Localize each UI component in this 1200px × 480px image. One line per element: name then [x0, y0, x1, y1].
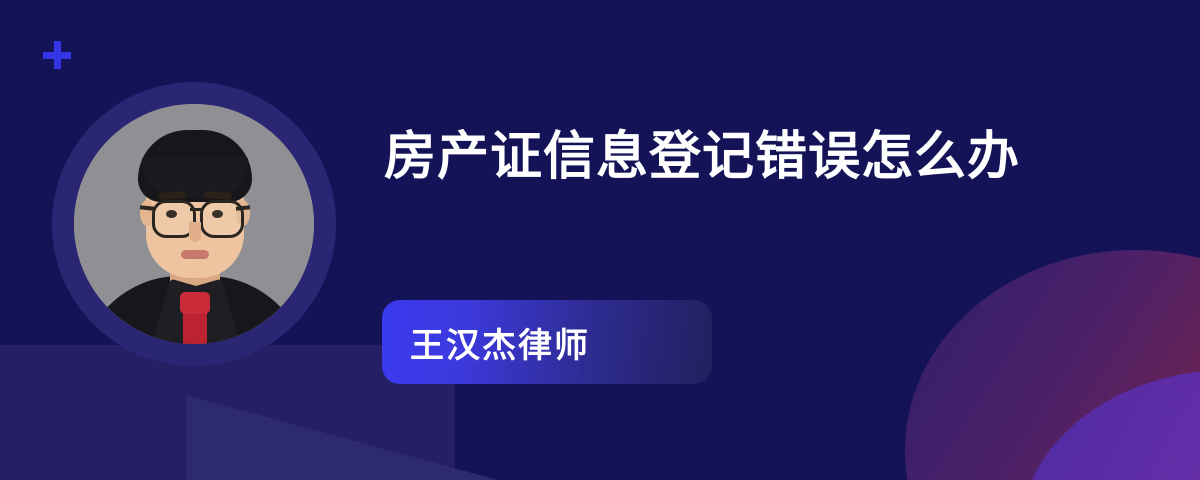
avatar: [74, 104, 314, 344]
decorative-rectangle-left: [0, 345, 160, 480]
promo-banner: 房产证信息登记错误怎么办 王汉杰律师: [0, 0, 1200, 480]
lawyer-name-button[interactable]: 王汉杰律师: [382, 300, 712, 384]
plus-icon: [43, 41, 71, 69]
avatar-mouth: [181, 250, 209, 259]
avatar-glasses-bridge: [190, 208, 202, 211]
avatar-nose: [189, 222, 201, 242]
plus-icon-vertical-bar: [54, 41, 61, 69]
page-title: 房产证信息登记错误怎么办: [384, 118, 1084, 196]
avatar-necktie-knot: [180, 292, 210, 314]
